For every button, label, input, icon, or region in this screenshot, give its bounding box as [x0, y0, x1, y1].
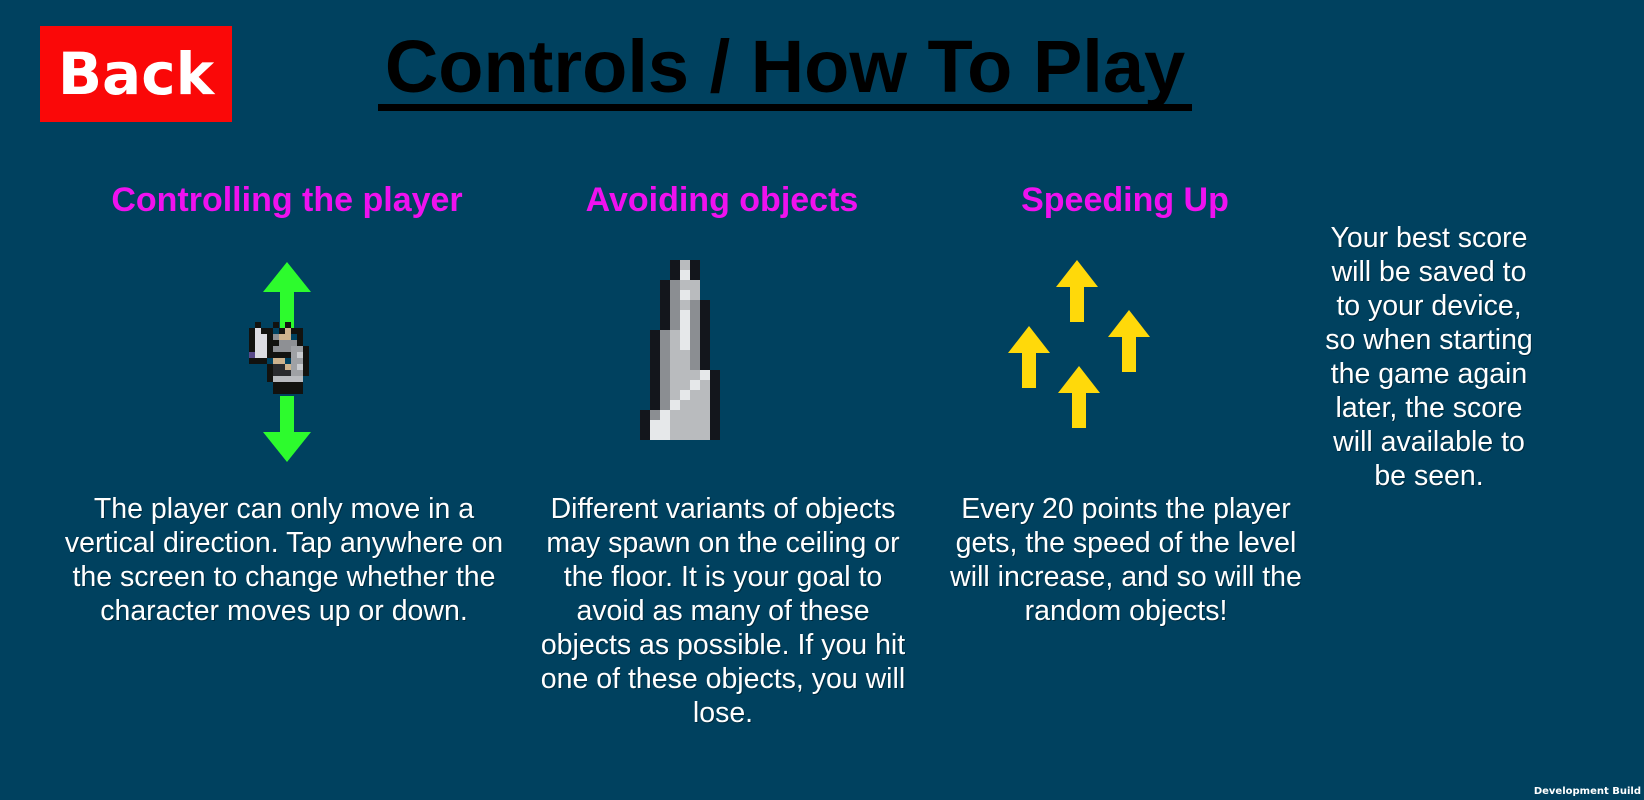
arrow-up-yellow-head — [1108, 310, 1150, 337]
arrow-up-yellow-head — [1056, 260, 1098, 287]
column-controlling-the-player: Controlling the player — [22, 182, 552, 219]
column-body-text: Different variants of objects may spawn … — [538, 492, 908, 730]
arrow-down-green-shaft — [280, 396, 294, 432]
column-body-text: The player can only move in a vertical d… — [54, 492, 514, 628]
column-heading: Speeding Up — [930, 182, 1320, 219]
arrow-up-yellow-icon — [1058, 366, 1100, 428]
knight-player-sprite — [237, 310, 333, 406]
arrow-up-yellow-shaft — [1072, 392, 1086, 428]
column-avoiding-objects: Avoiding objects — [520, 182, 924, 219]
arrow-up-yellow-icon — [1008, 326, 1050, 388]
arrow-up-green-head — [263, 262, 311, 292]
screen-root: Back Controls / How To Play Controlling … — [0, 0, 1644, 800]
column-speeding-up: Speeding Up Every 20 points the player g… — [930, 182, 1320, 219]
column-heading: Controlling the player — [22, 182, 552, 219]
back-button[interactable]: Back — [40, 26, 232, 122]
arrow-up-yellow-head — [1058, 366, 1100, 393]
obstacle-illustration — [630, 260, 810, 460]
column-heading: Avoiding objects — [520, 182, 924, 219]
best-score-note: Your best score will be saved to to your… — [1325, 221, 1533, 493]
arrow-down-green-icon — [263, 396, 311, 458]
arrow-up-yellow-shaft — [1122, 336, 1136, 372]
page-title: Controls / How To Play — [270, 28, 1300, 106]
back-button-label: Back — [58, 45, 214, 103]
spike-obstacle-sprite — [630, 260, 730, 440]
arrow-up-yellow-shaft — [1022, 352, 1036, 388]
page-title-underline — [378, 104, 1192, 111]
arrow-up-yellow-head — [1008, 326, 1050, 353]
column-body-text: Every 20 points the player gets, the spe… — [940, 492, 1312, 628]
arrow-up-yellow-icon — [1056, 260, 1098, 322]
arrow-up-yellow-shaft — [1070, 286, 1084, 322]
arrow-up-yellow-icon — [1108, 310, 1150, 372]
development-build-watermark: Development Build — [1534, 786, 1641, 798]
player-illustration — [217, 262, 377, 472]
speed-illustration — [990, 260, 1220, 460]
arrow-down-green-head — [263, 432, 311, 462]
